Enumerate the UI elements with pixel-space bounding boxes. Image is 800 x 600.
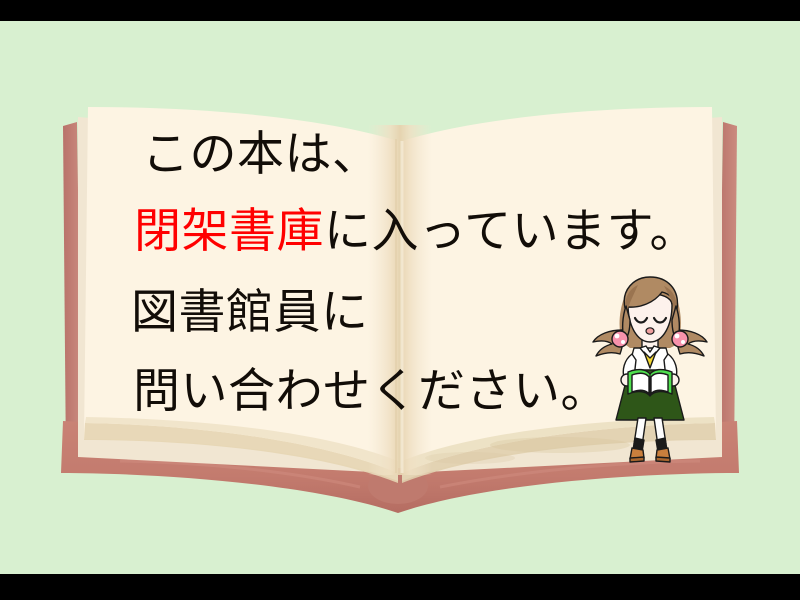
book-page-left (84, 107, 398, 483)
letterbox-top (0, 0, 800, 21)
shoes (630, 448, 670, 462)
mouth (646, 328, 654, 334)
screenshot-canvas: この本は、 閉架書庫に入っています。 図書館員に 問い合わせください。 (0, 0, 800, 600)
letterbox-bottom (0, 574, 800, 600)
hairtie-right (672, 331, 688, 347)
librarian-girl-illustration (592, 268, 708, 464)
hairtie-left (612, 331, 628, 347)
book-gutter (368, 125, 432, 475)
held-book (628, 370, 672, 396)
